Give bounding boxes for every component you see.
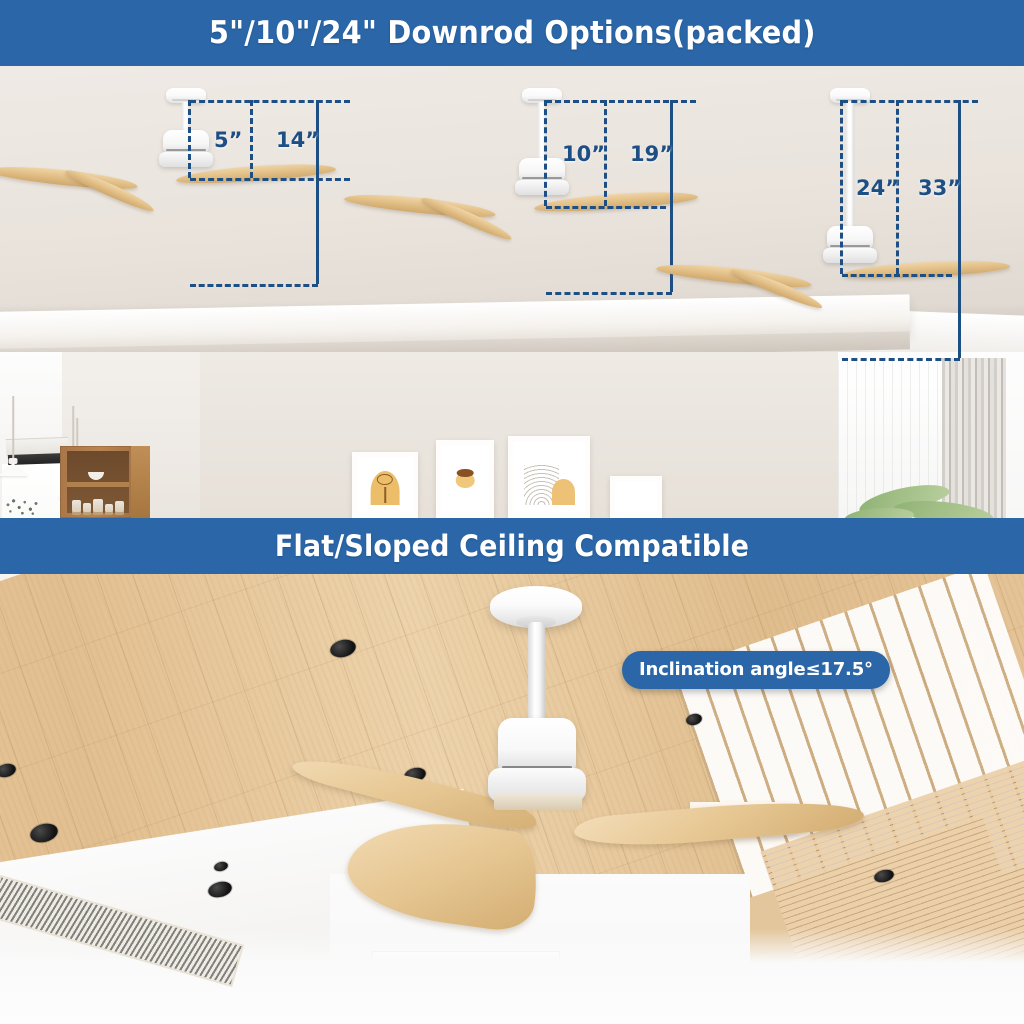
pendant-lamp xyxy=(0,396,30,476)
dimension-top-guide xyxy=(190,100,350,103)
framed-artwork xyxy=(352,452,418,518)
total-drop-line xyxy=(958,100,961,358)
dimension-bottom-guide xyxy=(546,206,666,209)
artwork-line-rings xyxy=(521,449,577,505)
fan-motor-housing xyxy=(827,226,873,250)
ceiling-fan-sloped xyxy=(432,586,692,886)
artwork-botanical xyxy=(365,465,405,505)
right-window-area xyxy=(838,352,1024,518)
artwork-abstract-oval xyxy=(449,453,481,505)
art-stem xyxy=(384,487,386,503)
total-drop-label: 33” xyxy=(918,176,961,200)
total-drop-label: 14” xyxy=(276,128,319,152)
downrod-dimension-left xyxy=(840,100,843,274)
art-sun xyxy=(552,479,574,505)
fan-motor-housing xyxy=(498,718,576,774)
dimension-bottom-guide xyxy=(190,178,350,181)
wooden-shelf-unit xyxy=(60,446,150,518)
art-bloom xyxy=(377,474,393,486)
downrod-length-label: 5” xyxy=(214,128,242,152)
banner-middle-title: Flat/Sloped Ceiling Compatible xyxy=(275,529,749,563)
artwork-blank xyxy=(623,489,649,505)
drop-bottom-guide xyxy=(190,284,318,287)
palm-plant xyxy=(848,468,998,518)
drop-bottom-guide xyxy=(546,292,672,295)
total-drop-label: 19” xyxy=(630,142,673,166)
downrod-dimension-left xyxy=(188,100,191,178)
ceiling-fan-5in xyxy=(126,88,246,218)
shelf-jar xyxy=(105,504,113,515)
framed-artwork xyxy=(508,436,590,518)
fan-mounting-plate xyxy=(494,794,582,810)
shelf-jar xyxy=(83,503,91,515)
fan-motor-housing xyxy=(519,158,565,182)
framed-artwork xyxy=(436,440,494,518)
downrod-comparison-scene: 5” 14” 10” 19” xyxy=(0,66,1024,518)
pendant-shade xyxy=(0,463,28,476)
sloped-ceiling-scene xyxy=(0,574,1024,1024)
art-oval-cap xyxy=(457,469,474,477)
downrod-length-label: 10” xyxy=(562,142,605,166)
total-drop-line xyxy=(670,100,673,292)
dimension-top-guide xyxy=(546,100,696,103)
fan-blade-hub xyxy=(515,180,569,195)
fan-blade-hub xyxy=(823,248,877,263)
dimension-bottom-guide xyxy=(842,274,952,277)
fan-downrod xyxy=(846,102,855,228)
shelf-side-panel xyxy=(131,446,150,518)
downrod-options-banner: 5"/10"/24" Downrod Options(packed) xyxy=(0,0,1024,66)
ceiling-compatible-banner: Flat/Sloped Ceiling Compatible xyxy=(0,518,1024,574)
inclination-angle-badge: Inclination angle≤17.5° xyxy=(622,651,890,689)
banner-top-title: 5"/10"/24" Downrod Options(packed) xyxy=(209,15,816,51)
product-infographic: 5"/10"/24" Downrod Options(packed) xyxy=(0,0,1024,1024)
fan-motor-housing xyxy=(163,130,209,154)
downrod-dimension-right xyxy=(250,100,253,178)
downrod-dimension-left xyxy=(544,100,547,206)
shelf-divider xyxy=(67,482,129,487)
fan-blade-hub xyxy=(159,152,213,167)
fan-downrod xyxy=(528,622,545,726)
shelf-jar xyxy=(72,500,81,515)
shelf-jar xyxy=(115,501,124,515)
foliage-decor xyxy=(4,496,44,518)
drop-bottom-guide xyxy=(842,358,960,361)
downrod-length-label: 24” xyxy=(856,176,899,200)
shelf-jar xyxy=(93,499,103,515)
framed-artwork xyxy=(610,476,662,518)
